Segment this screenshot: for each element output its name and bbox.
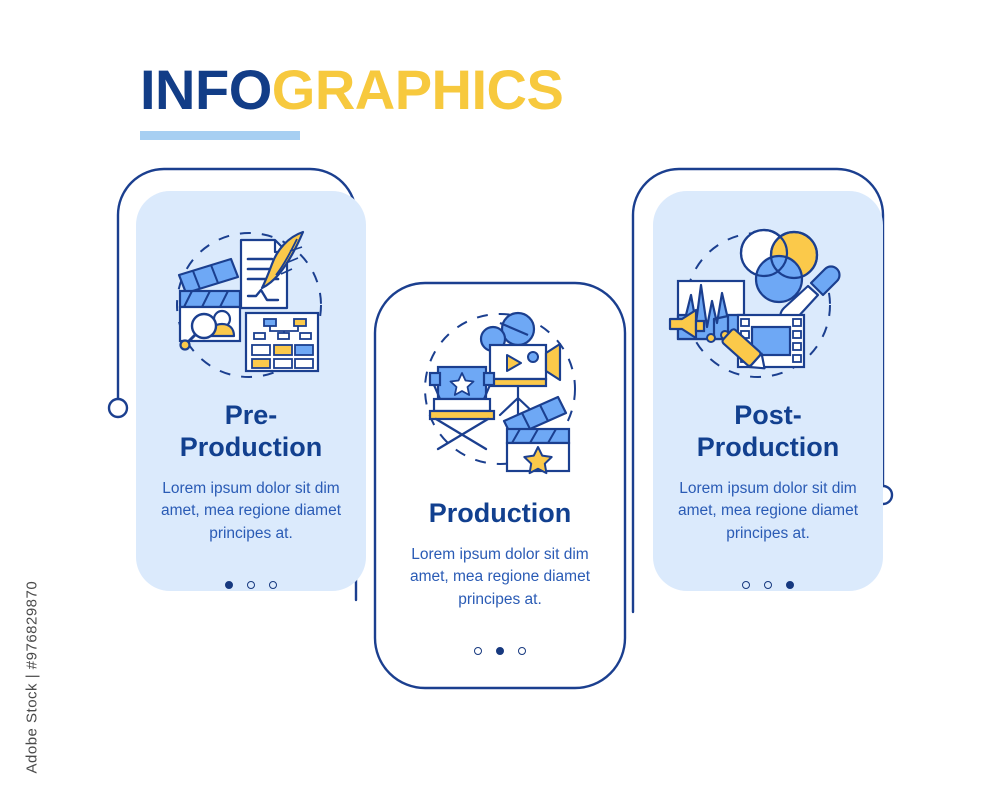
card-text-pre-production: Pre- Production Lorem ipsum dolor sit di… — [141, 400, 361, 589]
icon-cluster-production — [412, 305, 592, 475]
infographic-canvas: INFOGRAPHICS — [0, 0, 1000, 785]
script-quill-icon — [241, 232, 303, 308]
step-dot-3[interactable] — [786, 581, 794, 589]
card-description-production: Lorem ipsum dolor sit dim amet, mea regi… — [390, 544, 610, 611]
card-title-post-production: Post- Production — [658, 400, 878, 464]
film-strip-pencil-icon — [721, 315, 804, 375]
page-title-part-two: GRAPHICS — [272, 58, 564, 121]
step-dots-production[interactable] — [390, 647, 610, 655]
dashed-circle-decoration — [425, 314, 575, 464]
storyboard-schedule-icon — [246, 313, 318, 371]
dashed-circle-decoration — [177, 233, 321, 377]
clapperboard-search-icon — [179, 259, 240, 350]
dashed-circle-decoration — [686, 233, 830, 377]
step-dots-post-production[interactable] — [658, 581, 878, 589]
step-dot-3[interactable] — [518, 647, 526, 655]
step-dots-pre-production[interactable] — [141, 581, 361, 589]
step-dot-1[interactable] — [742, 581, 750, 589]
card-title-pre-production: Pre- Production — [141, 400, 361, 464]
stock-watermark: Adobe Stock | #976829870 — [24, 544, 41, 774]
card-text-production: Production Lorem ipsum dolor sit dim ame… — [390, 498, 610, 655]
movie-camera-icon — [481, 313, 560, 415]
step-dot-2[interactable] — [496, 647, 504, 655]
icon-cluster-post-production — [668, 223, 848, 388]
audio-waveform-icon — [670, 281, 744, 342]
card-description-pre-production: Lorem ipsum dolor sit dim amet, mea regi… — [141, 478, 361, 545]
card-title-production: Production — [390, 498, 610, 530]
step-dot-1[interactable] — [474, 647, 482, 655]
page-title-part-one: INFO — [140, 58, 272, 121]
step-dot-1[interactable] — [225, 581, 233, 589]
connector-endpoint-left — [109, 399, 127, 417]
step-dot-3[interactable] — [269, 581, 277, 589]
step-dot-2[interactable] — [247, 581, 255, 589]
director-chair-icon — [430, 367, 494, 449]
color-wheel-eyedropper-icon — [741, 230, 839, 323]
page-title: INFOGRAPHICS — [140, 62, 563, 118]
step-dot-2[interactable] — [764, 581, 772, 589]
icon-cluster-pre-production — [166, 223, 336, 388]
clapperboard-star-icon — [504, 397, 569, 473]
card-description-post-production: Lorem ipsum dolor sit dim amet, mea regi… — [658, 478, 878, 545]
title-underline-bar — [140, 131, 300, 140]
card-text-post-production: Post- Production Lorem ipsum dolor sit d… — [658, 400, 878, 589]
